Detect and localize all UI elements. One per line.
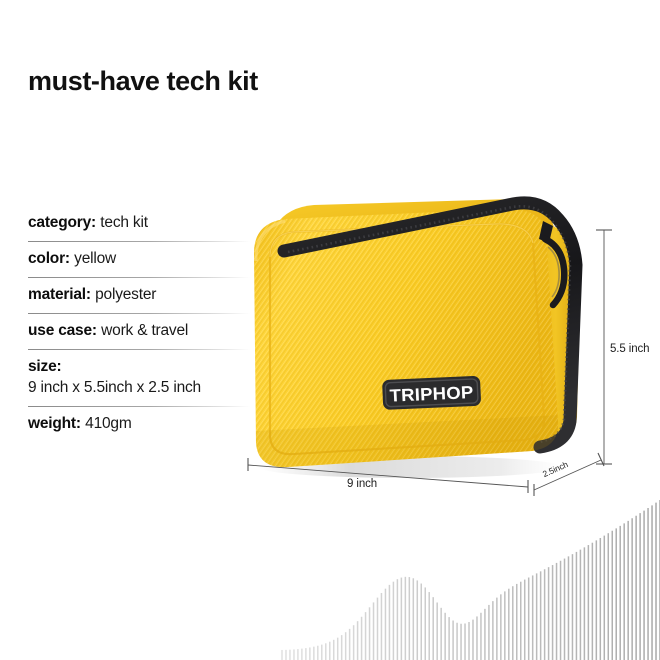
infographic-canvas: must-have tech kit category: tech kit co… xyxy=(0,0,660,660)
vertical-line-wave-pattern xyxy=(0,490,660,660)
dimension-label-width: 9 inch xyxy=(347,478,377,490)
dimension-label-height: 5.5 inch xyxy=(610,343,649,355)
dimension-width xyxy=(248,458,528,493)
